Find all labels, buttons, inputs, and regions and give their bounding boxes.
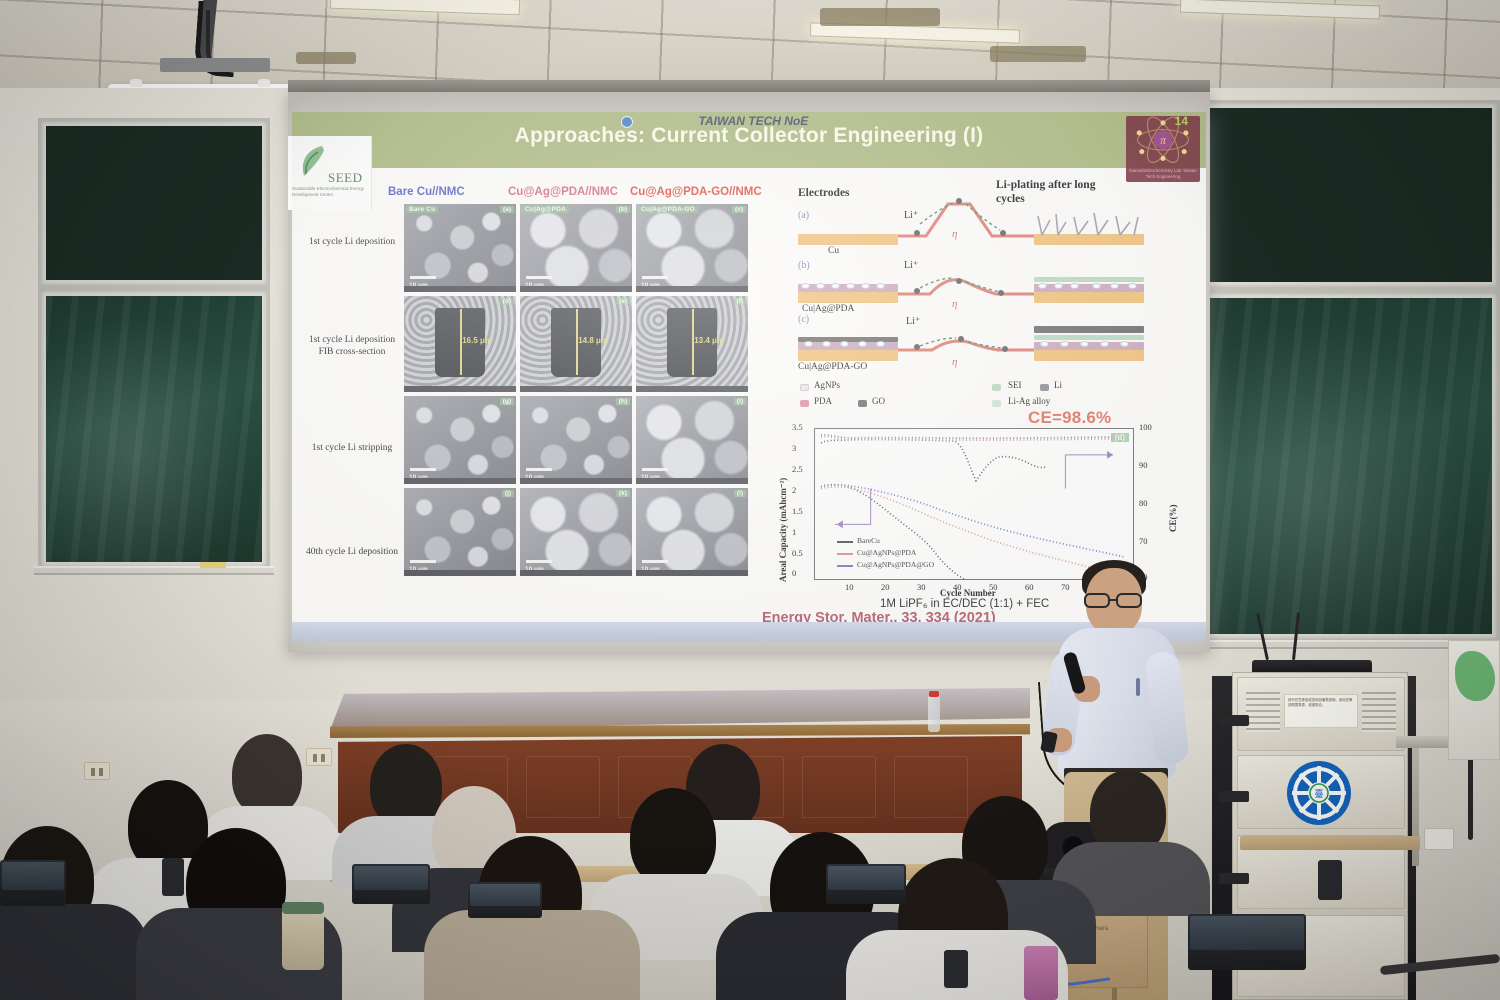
legend-swatch-go [858, 400, 867, 407]
laptop-screen [828, 866, 904, 890]
eta-symbol-a: η [952, 228, 957, 240]
sem-panel-j: (j) 10 μm [404, 488, 516, 576]
legend-swatch-pda [800, 400, 809, 407]
chart-legend-line-pda-go [837, 565, 853, 567]
sem-panel-g: (g) 10 μm [404, 396, 516, 484]
sem-panel-f-fib: 13.4 μm (f) [636, 296, 748, 392]
fib-depth-label: 16.5 μm [462, 336, 492, 345]
projector-mount-plate [160, 58, 270, 72]
legend-swatch-sei [992, 384, 1001, 391]
legend-swatch-li-ag-alloy [992, 400, 1001, 407]
go-layer-c [1034, 326, 1144, 333]
tumbler-cup [282, 908, 324, 970]
atom-logo: π Nanoelectrochemistry Lab Taiwan Tech E… [1126, 116, 1200, 182]
sei-layer-c [1034, 335, 1144, 340]
energy-barrier-curve-b [896, 268, 1036, 304]
sem-index: (d) [500, 298, 514, 305]
dendrite-group [1034, 208, 1146, 236]
chart-y2-axis-title: CE(%) [1168, 505, 1178, 533]
sem-index: (f) [734, 298, 747, 305]
x-tick-60: 60 [1025, 582, 1034, 592]
audience-head [232, 734, 302, 816]
chalkboard-lower-left [38, 288, 270, 570]
column-header-cu-ag-pda: Cu@Ag@PDA//NMC [508, 186, 618, 198]
legend-label-sei: SEI [1008, 380, 1022, 390]
y-tick-3-0: 3 [792, 443, 796, 453]
li-ion-dot [1000, 230, 1006, 236]
smartphone[interactable] [162, 858, 184, 896]
bottle-cap [929, 691, 939, 697]
electrolyte-label: 1M LiPF₆ in EC/DEC (1:1) + FEC [880, 598, 1049, 610]
li-ion-dot [914, 288, 920, 294]
electrode-label-cu-ag-pda-go: Cu|Ag@PDA-GO [798, 362, 867, 372]
chart-legend-line-barecu [837, 541, 853, 543]
sem-panel-k: (k) 10 μm [520, 488, 632, 576]
student-desk [1240, 836, 1420, 850]
sem-index: (h) [616, 398, 630, 405]
sem-tag: Bare Cu [406, 206, 438, 213]
li-ion-dot [956, 278, 962, 284]
audience-shoulders [0, 904, 148, 1000]
laptop-screen [470, 884, 540, 906]
sem-index: (b) [616, 206, 630, 213]
y-tick-0-5: 0.5 [792, 548, 803, 558]
y-tick-0-0: 0 [792, 568, 796, 578]
atom-logo-subtitle: Nanoelectrochemistry Lab Taiwan Tech Eng… [1126, 168, 1200, 180]
energy-barrier-curve-c [896, 326, 1036, 360]
x-tick-10: 10 [845, 582, 854, 592]
ce-badge: CE=98.6% [1028, 408, 1111, 428]
sem-panel-h: (h) 10 μm [520, 396, 632, 484]
laptop-screen [2, 862, 64, 890]
sei-layer-b [1034, 277, 1144, 282]
laptop[interactable] [468, 882, 542, 918]
chart-plot-area [815, 429, 1133, 580]
smartphone[interactable] [944, 950, 968, 988]
y-tick-1-0: 1 [792, 527, 796, 537]
x-tick-20: 20 [881, 582, 890, 592]
laptop[interactable] [826, 864, 906, 904]
smartphone[interactable] [1318, 860, 1342, 900]
legend-swatch-li [1040, 384, 1049, 391]
li-ion-dot [914, 230, 920, 236]
sem-index: (e) [616, 298, 630, 305]
fib-depth-label: 14.8 μm [578, 336, 608, 345]
electrode-label-cu-ag-pda: Cu|Ag@PDA [802, 304, 854, 314]
energy-barrier-curve-a [896, 196, 1036, 244]
sem-index: (a) [500, 206, 514, 213]
capacity-ce-chart: (d) BareCu Cu@AgNPs@PDA Cu@AgNPs@PDA@GO [814, 428, 1134, 580]
cu-layer-plated-c [1034, 350, 1144, 361]
sem-index: (j) [502, 490, 514, 497]
schematic-index-b: (b) [798, 260, 810, 271]
sem-panel-d-fib: 16.5 μm (d) [404, 296, 516, 392]
fib-depth-label: 13.4 μm [694, 336, 724, 345]
x-tick-30: 30 [917, 582, 926, 592]
y2-tick-80: 80 [1139, 498, 1148, 508]
chart-legend-pda-go: Cu@AgNPs@PDA@GO [857, 560, 934, 569]
y-tick-1-5: 1.5 [792, 506, 803, 516]
chalkboard-upper-right [1186, 100, 1500, 290]
purple-bottle [1024, 946, 1058, 1000]
sem-index: (g) [500, 398, 514, 405]
chalkboard-lower-right [1186, 290, 1500, 642]
sem-panel-e-fib: 14.8 μm (e) [520, 296, 632, 392]
legend-label-li-ag-alloy: Li-Ag alloy [1008, 396, 1050, 406]
column-header-bare-cu: Bare Cu//NMC [388, 186, 465, 198]
audience [0, 700, 1500, 1000]
atom-icon: π [1126, 116, 1200, 172]
y-tick-3-5: 3.5 [792, 422, 803, 432]
chart-legend-line-pda [837, 553, 853, 555]
sem-panel-i: (i) 10 μm [636, 396, 748, 484]
seed-logo-word: SEED [328, 170, 363, 186]
eta-symbol-b: η [952, 298, 957, 310]
lecture-hall-scene: EPSON Approaches: Current Collector Engi… [0, 0, 1500, 1000]
legend-label-pda: PDA [814, 396, 832, 406]
sem-panel-l: (l) 10 μm [636, 488, 748, 576]
li-ion-dot [998, 290, 1004, 296]
laptop-screen [1190, 916, 1304, 950]
row-label-fib-cross-section: 1st cycle Li deposition FIB cross-sectio… [304, 334, 400, 358]
legend-label-li: Li [1054, 380, 1062, 390]
sem-panel-b: Cu|Ag@PDA (b) 10 μm [520, 204, 632, 292]
legend-swatch-agnps [800, 384, 809, 391]
chart-y-axis-title: Areal Capacity (mAhcm⁻²) [778, 478, 789, 582]
audience-shoulders [424, 910, 640, 1000]
presenter-pen [1136, 678, 1140, 696]
li-ion-dot [1002, 346, 1008, 352]
y2-tick-100: 100 [1139, 422, 1152, 432]
chart-legend-pda: Cu@AgNPs@PDA [857, 548, 916, 557]
legend-label-agnps: AgNPs [814, 380, 840, 390]
cu-layer [798, 350, 898, 361]
seed-logo: SEED Sustainable Electrochemical Energy … [288, 136, 372, 210]
laptop[interactable] [1188, 914, 1306, 970]
tumbler-lid [282, 902, 324, 914]
li-ion-dot [958, 336, 964, 342]
seed-logo-subtitle: Sustainable Electrochemical Energy Devel… [292, 186, 368, 198]
laptop[interactable] [0, 860, 66, 906]
cu-layer [798, 234, 898, 245]
laptop-screen [354, 866, 428, 890]
li-ion-dot [914, 344, 920, 350]
chalk-rail [34, 566, 274, 575]
row-label-40th-deposition: 40th cycle Li deposition [304, 546, 400, 558]
eta-symbol-c: η [952, 356, 957, 368]
ceiling-opening [990, 46, 1086, 62]
leaf-icon [296, 142, 330, 182]
chart-legend-barecu: BareCu [857, 536, 880, 545]
chart-panel-index: (d) [1111, 433, 1129, 442]
x-tick-40: 40 [953, 582, 962, 592]
sem-tag: Cu|Ag@PDA-GO [638, 206, 698, 213]
chart-x-axis-title: Cycle Number [940, 588, 996, 598]
sem-panel-c: Cu|Ag@PDA-GO (c) 10 μm [636, 204, 748, 292]
laptop[interactable] [352, 864, 430, 904]
y-tick-2-0: 2 [792, 485, 796, 495]
slide-number: 14 [1175, 114, 1188, 128]
li-ion-dot [956, 198, 962, 204]
electrode-label-cu: Cu [828, 246, 839, 256]
sem-panel-a: Bare Cu (a) 10 μm [404, 204, 516, 292]
projector-foot [130, 79, 142, 87]
poster-graphic [1455, 651, 1495, 701]
y2-tick-70: 70 [1139, 536, 1148, 546]
sem-tag: Cu|Ag@PDA [522, 206, 569, 213]
audience-head [630, 788, 716, 888]
chalk-piece [200, 562, 226, 568]
row-label-1st-stripping: 1st cycle Li stripping [304, 442, 400, 454]
x-tick-50: 50 [989, 582, 998, 592]
projector-foot [258, 79, 270, 87]
sem-index: (c) [732, 206, 746, 213]
ceiling-opening [296, 52, 356, 64]
schematic-index-c: (c) [798, 314, 809, 325]
schematic-index-a: (a) [798, 210, 809, 221]
schematic-heading-electrodes: Electrodes [798, 186, 850, 200]
sem-index: (k) [616, 490, 630, 497]
chalkboard-upper-left [38, 118, 270, 288]
eyeglasses-icon [1084, 593, 1144, 608]
footer-organization: TAIWAN TECH NoE [699, 114, 809, 128]
footer-logo-icon [621, 116, 633, 128]
column-header-cu-ag-pda-go: Cu@Ag@PDA-GO//NMC [630, 186, 762, 198]
cu-layer-plated-b [1034, 292, 1144, 303]
sem-index: (i) [734, 398, 746, 405]
sem-index: (l) [734, 490, 746, 497]
row-label-1st-deposition: 1st cycle Li deposition [304, 236, 400, 248]
svg-text:π: π [1160, 135, 1166, 147]
ceiling-opening [820, 8, 940, 26]
legend-label-go: GO [872, 396, 885, 406]
y-tick-2-5: 2.5 [792, 464, 803, 474]
y2-tick-90: 90 [1139, 460, 1148, 470]
cu-layer [798, 292, 898, 303]
